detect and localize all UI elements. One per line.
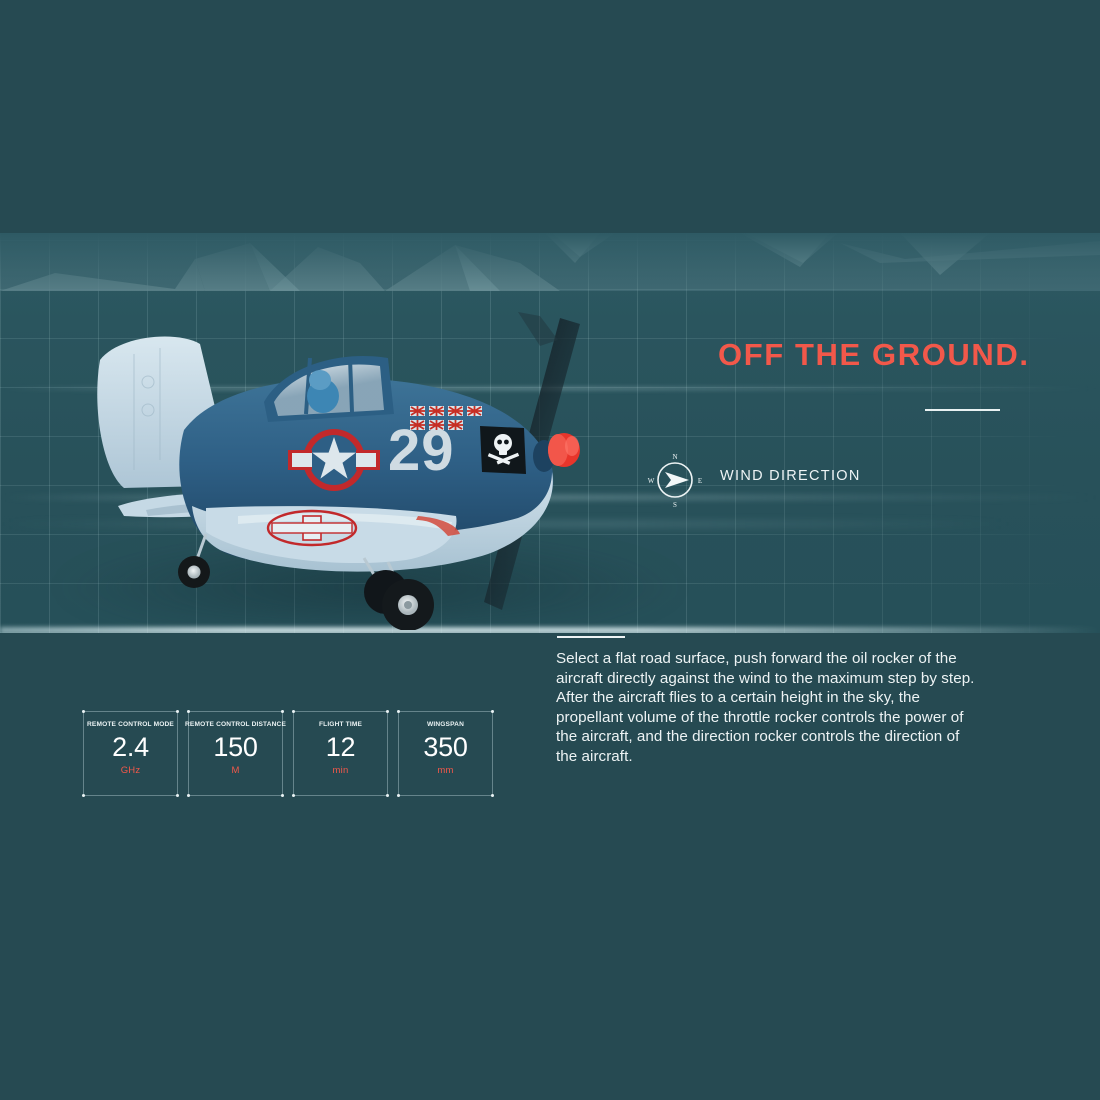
corner-dot xyxy=(82,710,85,713)
wind-direction-label: WIND DIRECTION xyxy=(720,468,861,484)
corner-dot xyxy=(281,794,284,797)
corner-dot xyxy=(176,794,179,797)
corner-dot xyxy=(491,794,494,797)
corner-dot xyxy=(397,710,400,713)
compass-arrow xyxy=(665,472,689,488)
spec-card-flight-time: FLIGHT TIME 12 min xyxy=(293,711,388,796)
compass-south: S xyxy=(673,501,677,509)
corner-dot xyxy=(386,794,389,797)
corner-dot xyxy=(292,794,295,797)
corner-dot xyxy=(82,794,85,797)
compass-west: W xyxy=(648,477,655,485)
spec-value: 12 xyxy=(326,732,355,763)
description-rule xyxy=(557,636,625,638)
spec-card-remote-control-distance: REMOTE CONTROL DISTANCE 150 M xyxy=(188,711,283,796)
corner-dot xyxy=(292,710,295,713)
grid-top-fade xyxy=(0,233,1100,303)
spec-label: REMOTE CONTROL DISTANCE xyxy=(185,721,286,728)
spec-value: 2.4 xyxy=(112,732,149,763)
corner-dot xyxy=(386,710,389,713)
wing-insignia xyxy=(268,511,356,545)
spec-value: 350 xyxy=(423,732,467,763)
rc-aircraft-image: 29 xyxy=(88,310,608,630)
corner-dot xyxy=(187,710,190,713)
spec-card-list: REMOTE CONTROL MODE 2.4 GHz REMOTE CONTR… xyxy=(83,711,493,796)
description-text: Select a flat road surface, push forward… xyxy=(556,649,976,767)
spec-card-wingspan: WINGSPAN 350 mm xyxy=(398,711,493,796)
spec-unit: GHz xyxy=(121,765,141,776)
spec-label: FLIGHT TIME xyxy=(319,721,362,728)
spec-unit: min xyxy=(333,765,349,776)
spec-unit: mm xyxy=(437,765,453,776)
main-wheel-front xyxy=(382,579,434,630)
corner-dot xyxy=(176,710,179,713)
compass-north: N xyxy=(672,453,677,461)
corner-dot xyxy=(491,710,494,713)
spec-card-remote-control-mode: REMOTE CONTROL MODE 2.4 GHz xyxy=(83,711,178,796)
spec-label: WINGSPAN xyxy=(427,721,464,728)
spec-label: REMOTE CONTROL MODE xyxy=(87,721,174,728)
spinner-cone xyxy=(548,433,580,467)
compass-east: E xyxy=(698,477,702,485)
headline-rule xyxy=(925,409,1000,411)
jolly-roger-flag xyxy=(480,426,526,474)
wind-direction-compass: N S E W xyxy=(645,450,705,510)
page-title: OFF THE GROUND. xyxy=(718,337,1030,373)
product-banner: 29 xyxy=(0,0,1100,1100)
spec-value: 150 xyxy=(213,732,257,763)
corner-dot xyxy=(397,794,400,797)
corner-dot xyxy=(187,794,190,797)
spec-unit: M xyxy=(231,765,239,776)
tail-wheel xyxy=(178,556,210,588)
corner-dot xyxy=(281,710,284,713)
